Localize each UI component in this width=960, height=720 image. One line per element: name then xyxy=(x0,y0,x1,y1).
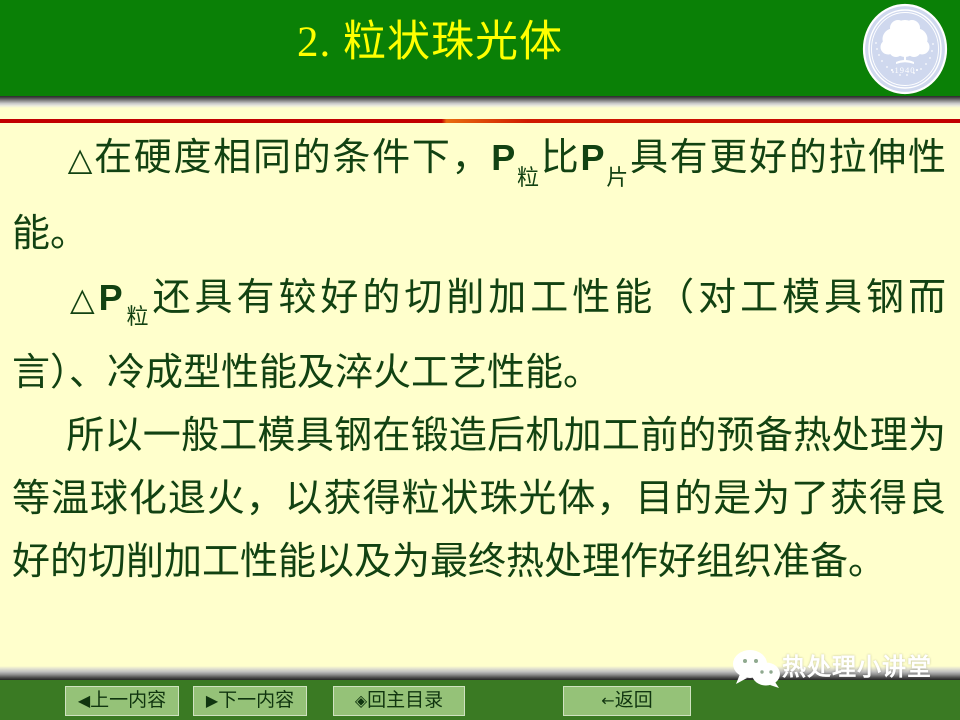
slide-content: △在硬度相同的条件下，P粒比P片具有更好的拉伸性能。 △P粒还具有较好的切削加工… xyxy=(0,126,960,646)
paragraph-1: △在硬度相同的条件下，P粒比P片具有更好的拉伸性能。 xyxy=(12,126,946,266)
subscript-granular: 粒 xyxy=(515,165,540,190)
watermark-text: 热处理小讲堂 xyxy=(782,652,932,684)
paragraph-2: △P粒还具有较好的切削加工性能（对工模具钢而言）、冷成型性能及淬火工艺性能。 xyxy=(12,266,946,406)
watermark: 热处理小讲堂 xyxy=(730,648,950,692)
next-content-button[interactable]: ▶下一内容 xyxy=(193,686,307,716)
header-red-rule xyxy=(0,119,960,123)
wechat-icon xyxy=(730,648,782,688)
arrow-left-icon: ← xyxy=(601,691,614,710)
paragraph-3-text: 所以一般工模具钢在锻造后机加工前的预备热处理为等温球化退火，以获得粒状珠光体，目… xyxy=(12,415,946,583)
slide: 2. 粒状珠光体 xyxy=(0,0,960,720)
bullet-triangle-icon: △ xyxy=(66,140,94,178)
previous-content-button[interactable]: ◀上一内容 xyxy=(65,686,179,716)
paragraph-1-text-a: 在硬度相同的条件下， xyxy=(94,137,491,179)
seal-year: •1940• xyxy=(891,65,920,75)
previous-content-label: 上一内容 xyxy=(90,690,166,711)
next-content-label: 下一内容 xyxy=(218,690,294,711)
bullet-triangle-icon: △ xyxy=(66,280,99,318)
symbol-p-granular: P xyxy=(491,137,515,178)
back-label: 返回 xyxy=(615,690,653,711)
symbol-p-granular: P xyxy=(99,277,123,318)
triangle-right-icon: ▶ xyxy=(206,691,218,710)
symbol-p-lamellar: P xyxy=(580,137,604,178)
paragraph-2-text: 还具有较好的切削加工性能（对工模具钢而言）、冷成型性能及淬火工艺性能。 xyxy=(12,277,946,395)
header-bevel-divider xyxy=(0,96,960,108)
university-seal-logo: •1940• xyxy=(862,3,948,95)
triangle-left-icon: ◀ xyxy=(78,691,90,710)
subscript-granular: 粒 xyxy=(123,304,153,329)
page-title: 2. 粒状珠光体 xyxy=(0,14,860,72)
paragraph-1-text-b: 比 xyxy=(541,137,581,179)
subscript-lamellar: 片 xyxy=(604,165,629,190)
diamond-icon: ◈ xyxy=(355,691,367,710)
main-menu-label: 回主目录 xyxy=(367,690,443,711)
main-menu-button[interactable]: ◈回主目录 xyxy=(333,686,465,716)
back-button[interactable]: ←返回 xyxy=(563,686,691,716)
paragraph-3: 所以一般工模具钢在锻造后机加工前的预备热处理为等温球化退火，以获得粒状珠光体，目… xyxy=(12,405,946,594)
